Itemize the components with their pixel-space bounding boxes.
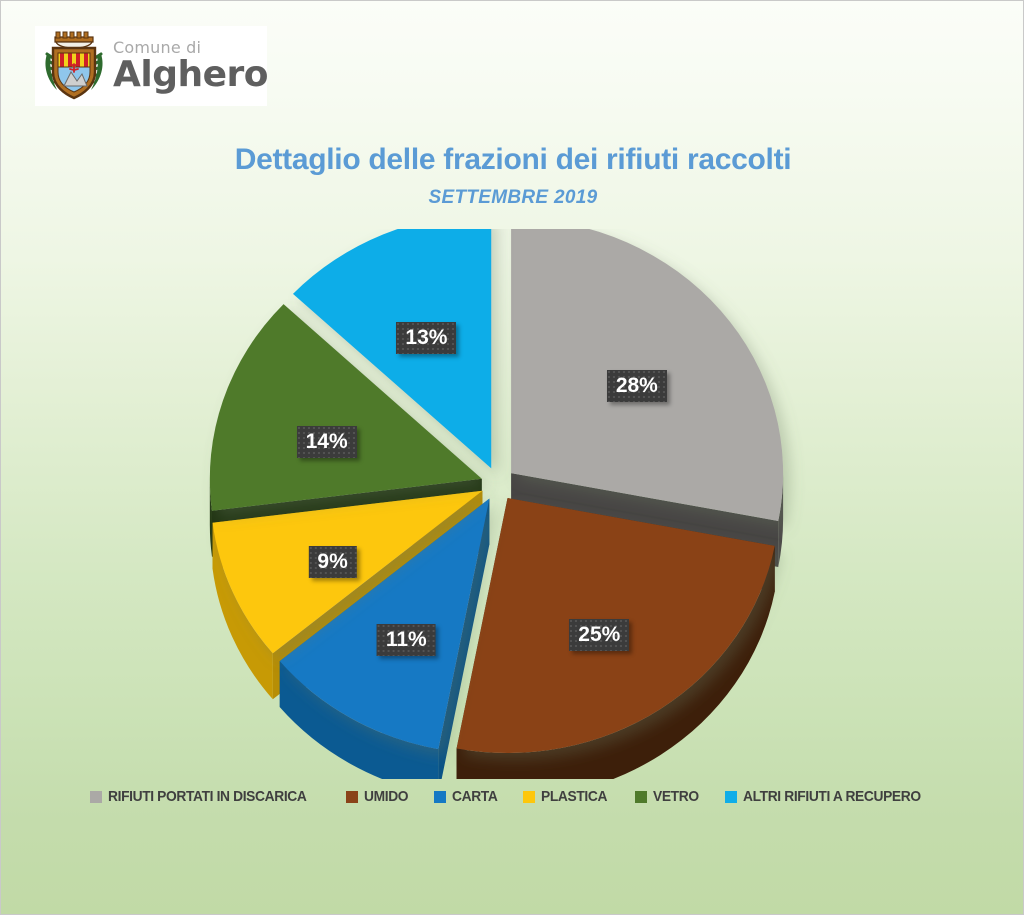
- pie-data-label: 14%: [297, 426, 357, 458]
- legend-swatch-icon: [90, 791, 102, 803]
- pie-data-label: 9%: [308, 546, 356, 578]
- legend-swatch-icon: [523, 791, 535, 803]
- page-title: Dettaglio delle frazioni dei rifiuti rac…: [1, 143, 1024, 177]
- legend-item[interactable]: UMIDO: [346, 788, 412, 805]
- chart-page: Comune di Alghero Dettaglio delle frazio…: [0, 0, 1024, 915]
- pie-data-label: 28%: [607, 370, 667, 402]
- logo-wordmark: Comune di Alghero: [113, 40, 268, 93]
- legend-item[interactable]: RIFIUTI PORTATI IN DISCARICA: [90, 788, 324, 805]
- legend-item[interactable]: VETRO: [635, 788, 703, 805]
- legend-item[interactable]: CARTA: [434, 788, 501, 805]
- legend-item-label: RIFIUTI PORTATI IN DISCARICA: [108, 788, 306, 805]
- alghero-coat-of-arms-icon: [37, 28, 111, 104]
- legend-item-label: CARTA: [452, 788, 497, 805]
- pie-data-label: 25%: [569, 619, 629, 651]
- pie-chart-canvas: RIFIUTI PORTATI IN DISCARICA 28%UMIDO 25…: [1, 229, 1024, 779]
- municipality-logo: Comune di Alghero: [35, 26, 267, 106]
- legend-item-label: PLASTICA: [541, 788, 607, 805]
- legend-item-label: ALTRI RIFIUTI A RECUPERO: [743, 788, 921, 805]
- legend-item-label: UMIDO: [364, 788, 408, 805]
- legend-swatch-icon: [725, 791, 737, 803]
- legend-item[interactable]: PLASTICA: [523, 788, 613, 805]
- legend-item[interactable]: ALTRI RIFIUTI A RECUPERO: [725, 788, 936, 805]
- legend-swatch-icon: [346, 791, 358, 803]
- page-subtitle: SETTEMBRE 2019: [1, 187, 1024, 209]
- legend-swatch-icon: [434, 791, 446, 803]
- pie-slice-group: RIFIUTI PORTATI IN DISCARICA 28%UMIDO 25…: [210, 229, 783, 779]
- legend-swatch-icon: [635, 791, 647, 803]
- pie-chart: RIFIUTI PORTATI IN DISCARICA 28%UMIDO 25…: [1, 229, 1024, 779]
- legend-item-label: VETRO: [653, 788, 699, 805]
- pie-data-label: 11%: [377, 624, 436, 656]
- pie-data-label: 13%: [396, 322, 456, 354]
- chart-legend: RIFIUTI PORTATI IN DISCARICAUMIDOCARTAPL…: [1, 788, 1024, 805]
- logo-name: Alghero: [113, 57, 268, 93]
